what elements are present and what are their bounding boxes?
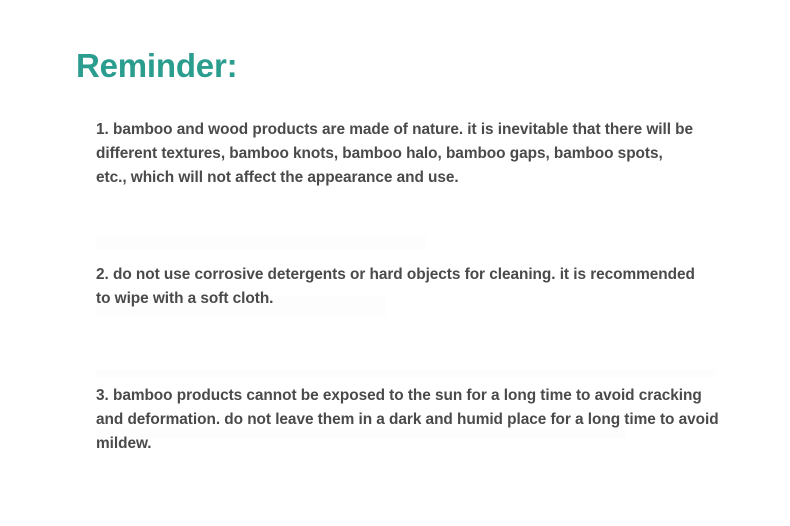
list-item: 3. bamboo products cannot be exposed to … (96, 384, 730, 456)
reminder-page: Reminder: 1. bamboo and wood products ar… (0, 0, 790, 526)
page-title: Reminder: (76, 44, 237, 88)
list-item: 1. bamboo and wood products are made of … (96, 118, 696, 190)
list-item: 2. do not use corrosive detergents or ha… (96, 263, 696, 311)
reminder-notes-list: 1. bamboo and wood products are made of … (96, 118, 736, 456)
